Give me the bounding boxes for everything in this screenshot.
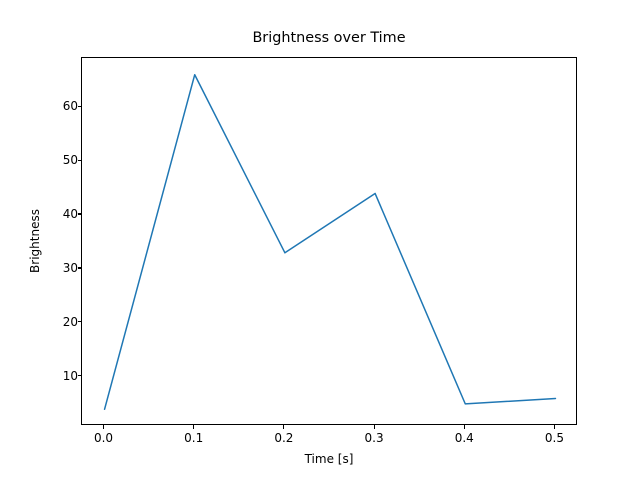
y-tick-mark [78,321,82,322]
x-tick-label: 0.5 [524,431,584,445]
x-tick-label: 0.4 [434,431,494,445]
y-tick-mark [78,106,82,107]
x-tick-mark [193,425,194,429]
y-tick-mark [78,213,82,214]
x-tick-mark [283,425,284,429]
x-tick-label: 0.0 [74,431,134,445]
y-axis-label: Brightness [27,57,43,425]
x-tick-mark [374,425,375,429]
y-tick-mark [78,375,82,376]
x-tick-mark [464,425,465,429]
y-tick-mark [78,160,82,161]
series-line-brightness [105,75,556,410]
x-axis-label: Time [s] [81,452,577,466]
line-chart-svg [82,58,578,426]
x-tick-label: 0.3 [344,431,404,445]
x-tick-label: 0.1 [164,431,224,445]
x-tick-label: 0.2 [254,431,314,445]
x-tick-mark [103,425,104,429]
x-tick-mark [554,425,555,429]
y-tick-mark [78,267,82,268]
chart-title: Brightness over Time [0,30,640,47]
figure-canvas: Brightness over Time 0.00.10.20.30.40.5 … [0,0,640,480]
plot-axes-area [81,57,577,425]
